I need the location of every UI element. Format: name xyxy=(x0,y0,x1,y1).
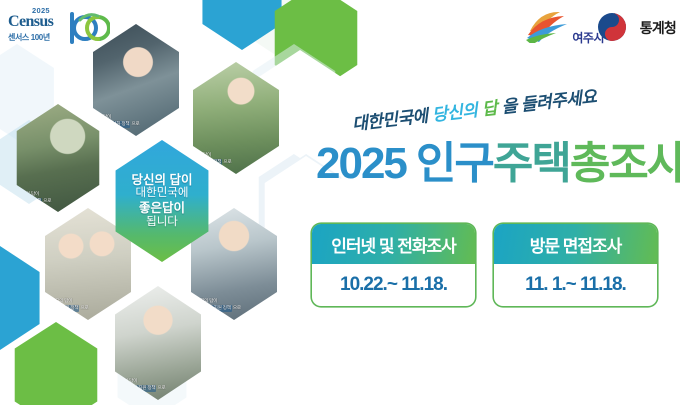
photo-caption-line1: 아이 부모의 답이 xyxy=(42,298,134,305)
info-box-period: 11. 1.~ 11.18. xyxy=(525,274,626,296)
tagline-part3: 답 xyxy=(481,99,498,120)
tagline-part2: 당신의 xyxy=(431,101,478,125)
slogan-line-4: 됩니다 xyxy=(146,216,178,230)
headline-word3: 총조사 xyxy=(570,139,680,188)
info-box-internet-phone-survey[interactable]: 인터넷 및 전화조사 10.22.~ 11.18. xyxy=(312,224,475,306)
info-box-header: 인터넷 및 전화조사 xyxy=(312,224,475,264)
census-logo-korean: 센서스 100년 xyxy=(8,32,50,43)
photo-caption-suffix: 으로 xyxy=(131,121,139,126)
photo-caption-line1: 청년의 답이 xyxy=(90,114,182,121)
tagline-part1: 대한민국에 xyxy=(351,106,428,133)
photo-caption: 청년의 답이 대중교통 활성화 정책 으로 xyxy=(90,114,182,128)
info-box-header: 방문 면접조사 xyxy=(494,224,657,264)
photo-caption-line2: 대중교통 활성화 정책 xyxy=(90,121,130,128)
info-box-period: 10.22.~ 11.18. xyxy=(340,274,447,296)
headline-word1: 인구 xyxy=(416,139,493,188)
photo-caption-suffix: 으로 xyxy=(223,159,231,164)
yeoju-city-logo: 여주시 xyxy=(524,9,604,47)
poster-canvas: 어르신의 답이 돌봄 지원 정책 으로 청년의 답이 대중교통 활성화 정책 으… xyxy=(0,0,680,405)
census-100-logo: 2025 Census 센서스 100년 xyxy=(6,4,110,50)
photo-caption: 아이의 답이 대문화 지원 정책 으로 xyxy=(190,152,282,166)
photo-caption-line1: 아이의 답이 xyxy=(190,152,282,159)
slogan-line-3: 좋은답이 xyxy=(139,201,185,216)
info-box-body: 10.22.~ 11.18. xyxy=(312,264,475,306)
tagline: 대한민국에 당신의 답 을 들려주세요 xyxy=(351,82,598,135)
info-box-body: 11. 1.~ 11.18. xyxy=(494,264,657,306)
photo-caption-suffix: 으로 xyxy=(43,198,51,203)
government-taeguk-icon xyxy=(596,11,628,43)
photo-caption-suffix: 으로 xyxy=(81,305,89,310)
headline-word2: 주택 xyxy=(493,139,570,188)
statistics-korea-name: 통계청 xyxy=(640,18,676,38)
info-box-title: 방문 면접조사 xyxy=(530,232,622,257)
headline-year: 2025 xyxy=(316,139,406,188)
photo-caption-line1: 일인가구의 답이 xyxy=(188,298,280,305)
census-100-mark-icon xyxy=(68,8,110,46)
page-title: 2025인구주택총조사 xyxy=(316,142,680,186)
info-box-visit-interview-survey[interactable]: 방문 면접조사 11. 1.~ 11.18. xyxy=(494,224,657,306)
photo-caption-suffix: 으로 xyxy=(158,385,166,390)
photo-caption-suffix: 으로 xyxy=(233,305,241,310)
statistics-korea-logo: 통계청 xyxy=(596,9,678,47)
slogan-line-2: 대한민국에 xyxy=(136,187,189,201)
slogan-line-1: 당신의 답이 xyxy=(132,173,193,188)
photo-caption-line2: 출산 육아 지원 정책 xyxy=(42,305,79,312)
info-box-title: 인터넷 및 전화조사 xyxy=(331,232,456,257)
tagline-part4: 을 들려주세요 xyxy=(501,87,598,117)
photo-caption: 일인가구의 답이 1인가구 주거 지원 정책 으로 xyxy=(188,298,280,312)
census-logo-word: Census xyxy=(8,13,53,31)
photo-caption: 아이 부모의 답이 출산 육아 지원 정책 으로 xyxy=(42,298,134,312)
